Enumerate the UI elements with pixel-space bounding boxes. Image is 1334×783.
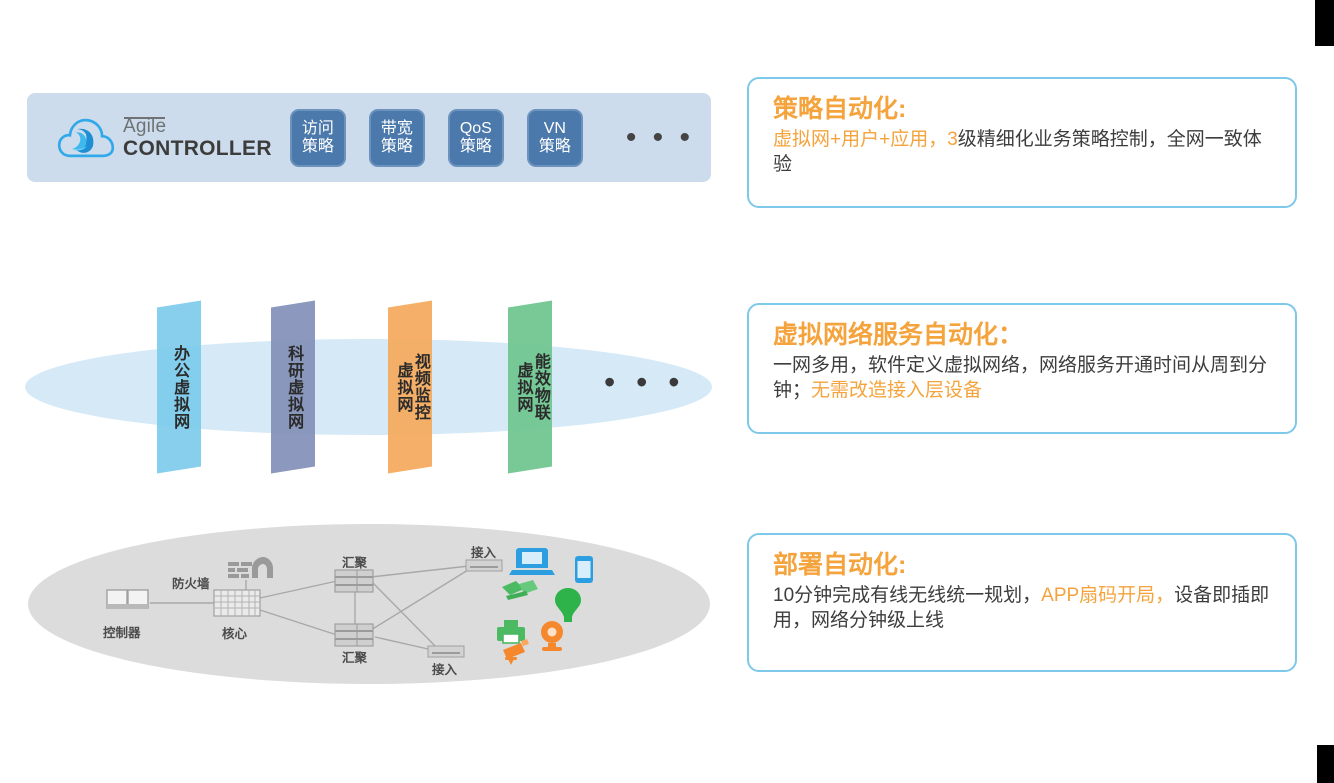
vn-label-video: 视频监控 虚拟网 xyxy=(386,304,436,470)
vn-label-research: 科研虚拟网 xyxy=(271,304,315,470)
core-switch-icon xyxy=(214,590,260,616)
link-core-agg-lower xyxy=(260,610,337,635)
vn-label-text: 科研虚拟网 xyxy=(285,345,301,430)
vn-label-office: 办公虚拟网 xyxy=(157,304,201,470)
logo-agile-text: Agile xyxy=(123,116,166,137)
edge-artifact-bottom xyxy=(1317,745,1334,783)
policy-chip-group: 访问 策略 带宽 策略 QoS 策略 VN 策略 • • • xyxy=(290,109,694,167)
callout-title: 虚拟网络服务自动化： xyxy=(773,321,1275,351)
policy-chip-ellipsis: • • • xyxy=(626,130,694,145)
vn-ellipsis: • • • xyxy=(604,374,685,390)
edge-artifact-top xyxy=(1315,0,1334,46)
link-agg-upper-access-upper xyxy=(371,566,469,577)
callout-card-virtual-network-service: 虚拟网络服务自动化： 一网多用，软件定义虚拟网络，网络服务开通时间从周到分钟；无… xyxy=(747,303,1297,434)
logo-word-agile: Agile xyxy=(123,117,272,136)
controller-icon xyxy=(107,590,148,609)
access-lower-icon xyxy=(428,646,464,657)
aggregation-upper-icon xyxy=(335,570,373,592)
vn-label-text: 虚拟网 xyxy=(394,362,410,413)
callout-body-highlight: APP扇码开局， xyxy=(1041,585,1174,606)
webcam-icon xyxy=(541,621,563,651)
topology-label-aggregation-upper: 汇聚 xyxy=(342,552,367,571)
chip-line-1: 访问 xyxy=(302,120,334,138)
policy-chip-bandwidth[interactable]: 带宽 策略 xyxy=(369,109,425,167)
topology-label-access-lower: 接入 xyxy=(432,659,457,678)
policy-chip-qos[interactable]: QoS 策略 xyxy=(448,109,504,167)
callout-body: 10分钟完成有线无线统一规划，APP扇码开局，设备即插即用，网络分钟级上线 xyxy=(773,583,1275,634)
callout-body: 虚拟网+用户+应用，3级精细化业务策略控制，全网一致体验 xyxy=(773,127,1275,178)
callout-title: 部署自动化: xyxy=(773,551,1275,581)
chip-line-2: 策略 xyxy=(381,138,413,156)
chip-line-1: 带宽 xyxy=(381,120,413,138)
lamp-icon xyxy=(555,588,581,622)
callout-body-highlight: 虚拟网+用户+应用，3 xyxy=(773,129,958,150)
cloud-icon xyxy=(57,113,115,163)
link-agg-upper-access-lower xyxy=(371,581,441,652)
chip-line-1: VN xyxy=(544,120,566,138)
callout-body-highlight: 无需改造接入层设备 xyxy=(811,380,982,401)
callout-body-plain: 10分钟完成有线无线统一规划， xyxy=(773,585,1041,606)
callout-card-policy-automation: 策略自动化: 虚拟网+用户+应用，3级精细化业务策略控制，全网一致体验 xyxy=(747,77,1297,208)
vn-label-text-secondary: 能效物联 xyxy=(532,353,548,421)
access-upper-icon xyxy=(466,560,502,571)
scanner-icon xyxy=(502,580,538,600)
firewall-icon xyxy=(228,557,273,578)
topology-label-access-upper: 接入 xyxy=(471,542,496,561)
vn-label-text-secondary: 视频监控 xyxy=(412,353,428,421)
printer-icon xyxy=(497,620,525,643)
topology-label-aggregation-lower: 汇聚 xyxy=(342,647,367,666)
vn-label-energy: 能效物联 虚拟网 xyxy=(506,304,556,470)
vn-label-text: 办公虚拟网 xyxy=(171,345,187,430)
aggregation-lower-icon xyxy=(335,624,373,646)
logo-word-controller: CONTROLLER xyxy=(123,138,272,159)
topology-stage: 控制器 防火墙 核心 汇聚 汇聚 接入 接入 xyxy=(0,524,730,688)
vn-label-text: 虚拟网 xyxy=(514,362,530,413)
agile-controller-logo: Agile CONTROLLER xyxy=(57,113,272,163)
tablet-icon xyxy=(575,556,593,583)
link-core-agg-upper xyxy=(260,581,337,598)
topology-label-controller: 控制器 xyxy=(103,622,141,641)
topology-label-core: 核心 xyxy=(222,623,247,642)
callout-body: 一网多用，软件定义虚拟网络，网络服务开通时间从周到分钟；无需改造接入层设备 xyxy=(773,353,1275,404)
chip-line-2: 策略 xyxy=(460,138,492,156)
chip-line-1: QoS xyxy=(460,120,492,138)
topology-label-firewall: 防火墙 xyxy=(172,573,210,592)
callout-card-deployment-automation: 部署自动化: 10分钟完成有线无线统一规划，APP扇码开局，设备即插即用，网络分… xyxy=(747,533,1297,672)
callout-title: 策略自动化: xyxy=(773,95,1275,125)
chip-line-2: 策略 xyxy=(302,138,334,156)
link-agg-lower-access-upper xyxy=(371,570,468,630)
virtual-network-stage: 办公虚拟网 科研虚拟网 视频监控 虚拟网 能效物联 虚拟网 • • • xyxy=(0,288,730,488)
agile-controller-bar: Agile CONTROLLER 访问 策略 带宽 策略 QoS 策略 VN 策… xyxy=(27,93,711,182)
laptop-icon xyxy=(509,548,555,575)
diagram-canvas: Agile CONTROLLER 访问 策略 带宽 策略 QoS 策略 VN 策… xyxy=(0,0,1334,783)
policy-chip-vn[interactable]: VN 策略 xyxy=(527,109,583,167)
policy-chip-access[interactable]: 访问 策略 xyxy=(290,109,346,167)
chip-line-2: 策略 xyxy=(539,138,571,156)
